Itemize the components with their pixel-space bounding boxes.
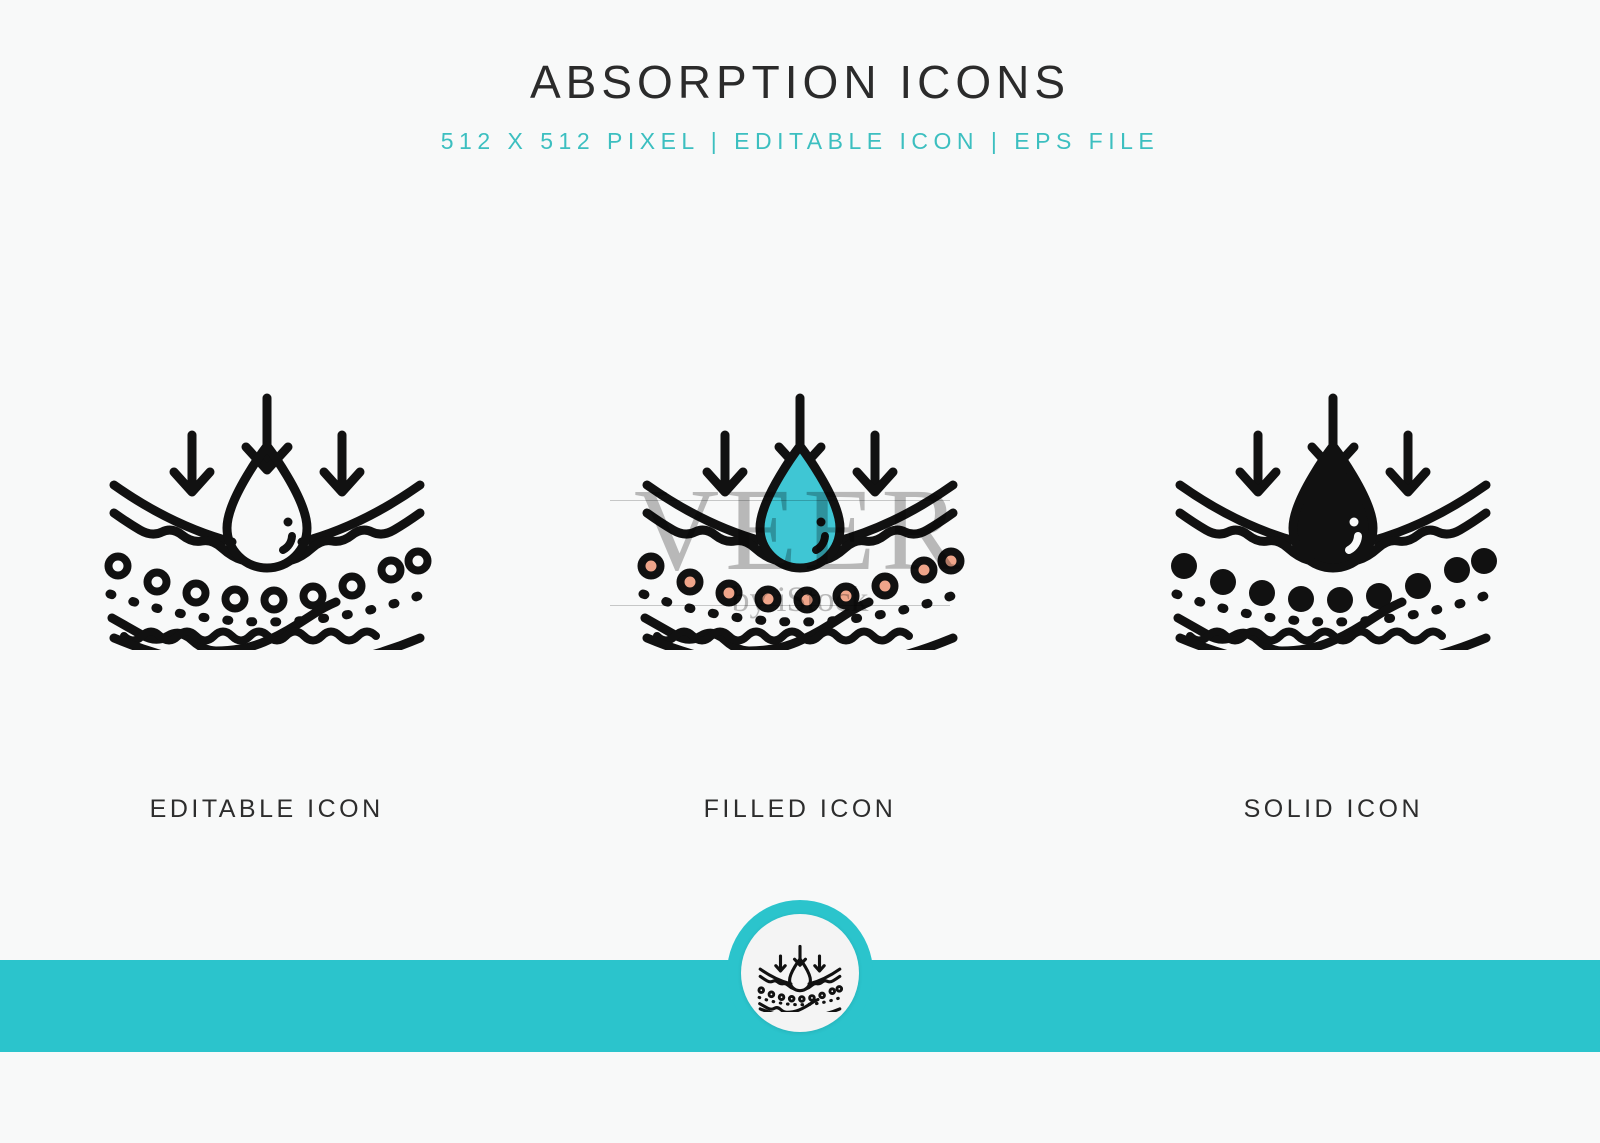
skin-absorption-filled-icon <box>635 350 965 650</box>
pore-row <box>108 552 427 610</box>
skin-absorption-line-icon <box>102 350 432 650</box>
badge-disc <box>741 914 859 1032</box>
skin-absorption-badge-icon <box>757 934 843 1012</box>
skin-absorption-solid-icon <box>1168 350 1498 650</box>
header: ABSORPTION ICONS 512 X 512 PIXEL | EDITA… <box>0 58 1600 155</box>
labels-row: EDITABLE ICON FILLED ICON SOLID ICON <box>0 795 1600 824</box>
label-editable-icon: EDITABLE ICON <box>0 795 533 824</box>
label-solid-icon: SOLID ICON <box>1067 795 1600 824</box>
label-filled-icon: FILLED ICON <box>533 795 1066 824</box>
page-title: ABSORPTION ICONS <box>0 58 1600 106</box>
page-subtitle: 512 X 512 PIXEL | EDITABLE ICON | EPS FI… <box>0 128 1600 155</box>
icon-cell-filled[interactable] <box>533 300 1066 700</box>
droplet-shape <box>760 446 840 568</box>
icon-cell-solid[interactable] <box>1067 300 1600 700</box>
page-canvas: ABSORPTION ICONS 512 X 512 PIXEL | EDITA… <box>0 0 1600 1143</box>
icons-row <box>0 300 1600 700</box>
droplet-shape <box>1293 446 1373 568</box>
badge-ring[interactable] <box>727 900 873 1046</box>
icon-cell-editable[interactable] <box>0 300 533 700</box>
